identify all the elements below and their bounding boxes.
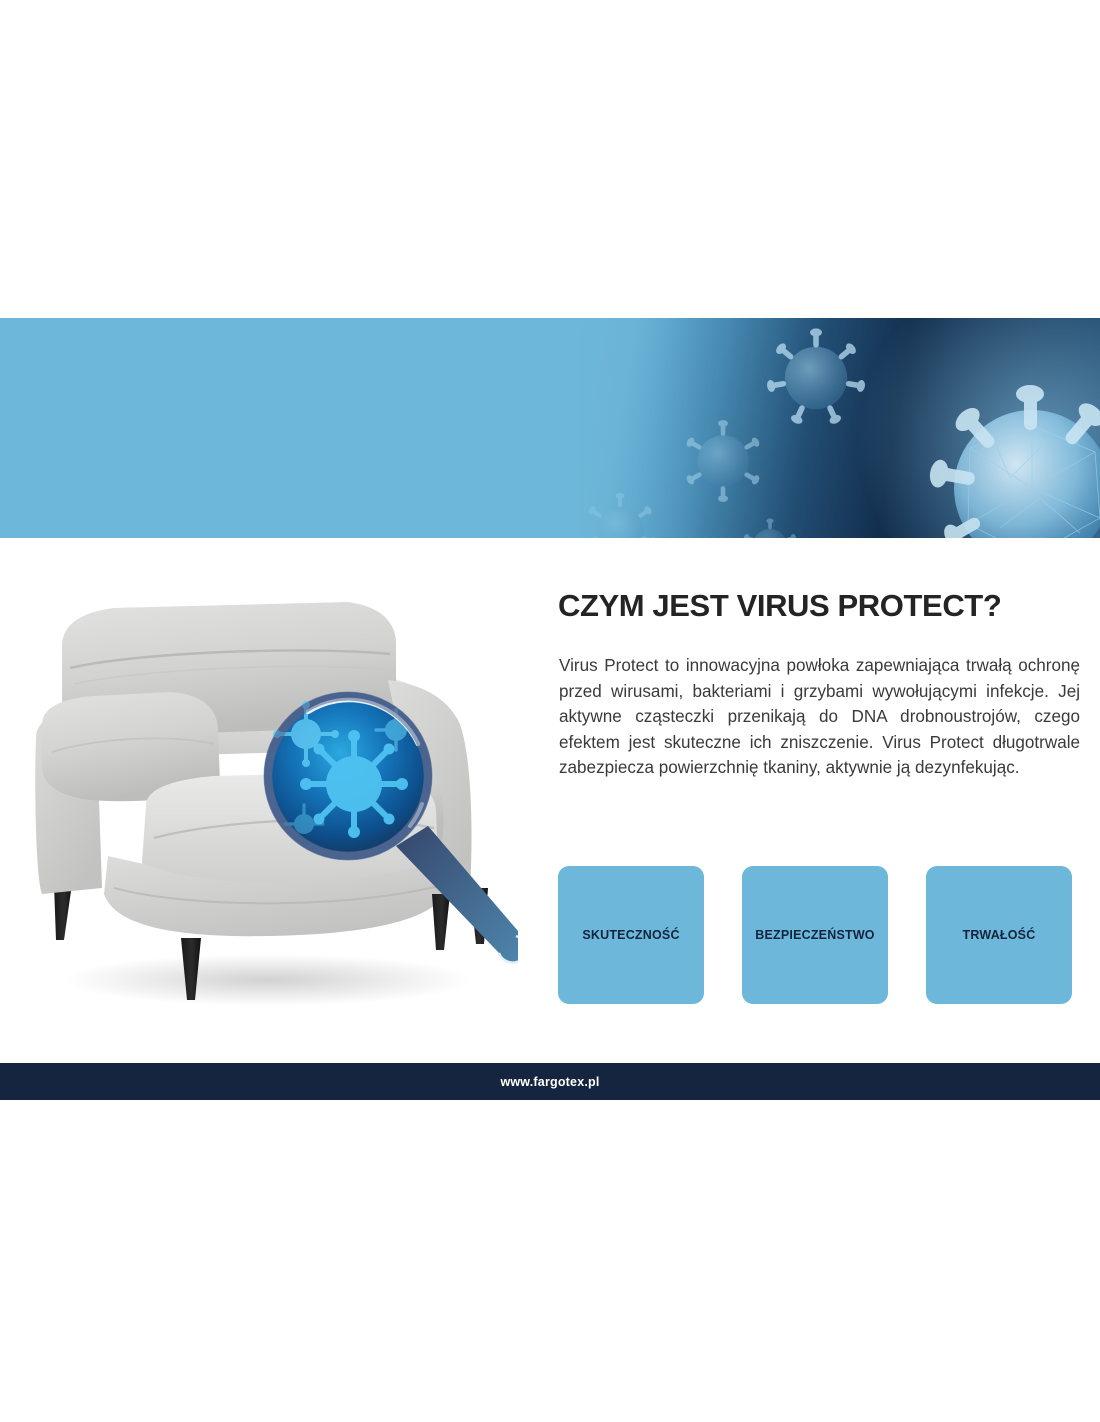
feature-badges: SKUTECZNOŚĆ BEZPIECZEŃSTWO TRWAŁOŚĆ bbox=[558, 866, 1072, 1004]
badge-label: TRWAŁOŚĆ bbox=[963, 928, 1036, 942]
description-paragraph: Virus Protect to innowacyjna powłoka zap… bbox=[559, 653, 1080, 781]
hero-banner: VIRUS PROTECT bbox=[0, 318, 1100, 538]
footer-bar: www.fargotex.pl bbox=[0, 1063, 1100, 1100]
badge-label: SKUTECZNOŚĆ bbox=[582, 928, 679, 942]
footer-website-url[interactable]: www.fargotex.pl bbox=[500, 1075, 599, 1089]
armchair-product-image bbox=[18, 588, 518, 1028]
banner-gradient-fade bbox=[470, 318, 700, 538]
page-title: CZYM JEST VIRUS PROTECT? bbox=[558, 589, 1088, 623]
badge-trwalosc[interactable]: TRWAŁOŚĆ bbox=[926, 866, 1072, 1004]
badge-skutecznosc[interactable]: SKUTECZNOŚĆ bbox=[558, 866, 704, 1004]
badge-label: BEZPIECZEŃSTWO bbox=[755, 928, 874, 942]
badge-bezpieczenstwo[interactable]: BEZPIECZEŃSTWO bbox=[742, 866, 888, 1004]
